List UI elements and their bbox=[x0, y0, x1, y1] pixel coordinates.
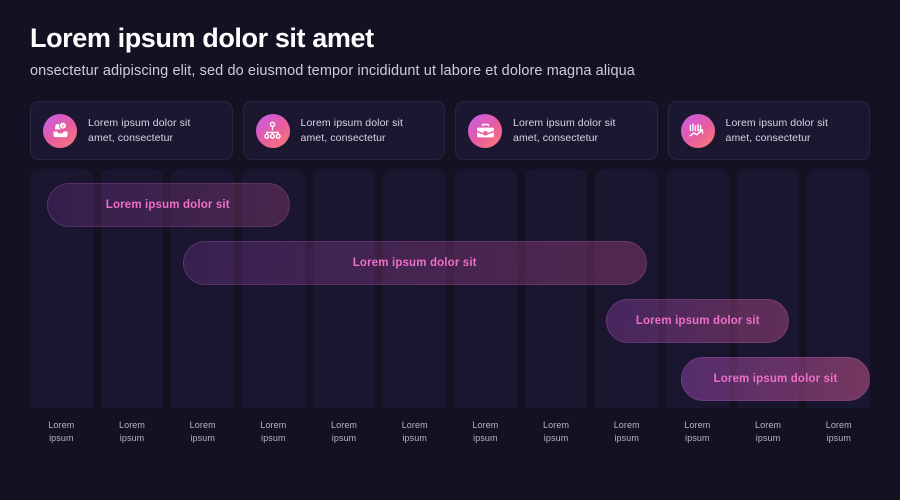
gantt-chart: Lorem ipsum dolor sit Lorem ipsum dolor … bbox=[30, 169, 870, 464]
axis-label: Loremipsum bbox=[242, 419, 305, 445]
axis-label: Loremipsum bbox=[595, 419, 658, 445]
axis-label-line: ipsum bbox=[454, 432, 517, 445]
gantt-bar-label: Lorem ipsum dolor sit bbox=[714, 373, 838, 385]
axis-label-line: Lorem bbox=[525, 419, 588, 432]
inbox-check-icon bbox=[43, 114, 77, 148]
gantt-bar[interactable]: Lorem ipsum dolor sit bbox=[47, 183, 291, 227]
info-card-2[interactable]: Lorem ipsum dolor sit amet, consectetur bbox=[243, 101, 446, 160]
chart-growth-icon bbox=[681, 114, 715, 148]
axis-label: Loremipsum bbox=[101, 419, 164, 445]
header: Lorem ipsum dolor sit amet onsectetur ad… bbox=[30, 22, 870, 79]
info-card-1[interactable]: Lorem ipsum dolor sit amet, consectetur bbox=[30, 101, 233, 160]
info-card-4[interactable]: Lorem ipsum dolor sit amet, consectetur bbox=[668, 101, 871, 160]
axis-label-line: ipsum bbox=[171, 432, 234, 445]
gantt-bar-label: Lorem ipsum dolor sit bbox=[106, 199, 230, 211]
axis-label-line: Lorem bbox=[807, 419, 870, 432]
axis-label-line: Lorem bbox=[737, 419, 800, 432]
axis-label-line: ipsum bbox=[383, 432, 446, 445]
info-card-3[interactable]: Lorem ipsum dolor sit amet, consectetur bbox=[455, 101, 658, 160]
briefcase-icon bbox=[468, 114, 502, 148]
axis-label-line: ipsum bbox=[525, 432, 588, 445]
axis-label-line: ipsum bbox=[666, 432, 729, 445]
axis-label-line: ipsum bbox=[242, 432, 305, 445]
page-title: Lorem ipsum dolor sit amet bbox=[30, 22, 870, 54]
page-subtitle: onsectetur adipiscing elit, sed do eiusm… bbox=[30, 63, 870, 79]
axis-label-line: ipsum bbox=[737, 432, 800, 445]
slide-root: { "header": { "title": "Lorem ipsum dolo… bbox=[0, 0, 900, 500]
gantt-bar[interactable]: Lorem ipsum dolor sit bbox=[183, 241, 647, 285]
axis-label-line: ipsum bbox=[101, 432, 164, 445]
axis-label-line: Lorem bbox=[313, 419, 376, 432]
axis-label-line: Lorem bbox=[383, 419, 446, 432]
axis-label: Loremipsum bbox=[525, 419, 588, 445]
hierarchy-icon bbox=[256, 114, 290, 148]
axis-label: Loremipsum bbox=[313, 419, 376, 445]
axis-label: Loremipsum bbox=[666, 419, 729, 445]
gantt-axis-labels: Loremipsum Loremipsum Loremipsum Loremip… bbox=[30, 419, 870, 445]
axis-label: Loremipsum bbox=[171, 419, 234, 445]
axis-label: Loremipsum bbox=[807, 419, 870, 445]
axis-label-line: Lorem bbox=[101, 419, 164, 432]
axis-label-line: Lorem bbox=[454, 419, 517, 432]
gantt-bar[interactable]: Lorem ipsum dolor sit bbox=[681, 357, 870, 401]
axis-label: Loremipsum bbox=[737, 419, 800, 445]
info-card-label: Lorem ipsum dolor sit amet, consectetur bbox=[726, 116, 858, 146]
info-card-label: Lorem ipsum dolor sit amet, consectetur bbox=[88, 116, 220, 146]
axis-label-line: Lorem bbox=[171, 419, 234, 432]
axis-label: Loremipsum bbox=[383, 419, 446, 445]
axis-label-line: ipsum bbox=[313, 432, 376, 445]
axis-label-line: Lorem bbox=[30, 419, 93, 432]
gantt-bar-label: Lorem ipsum dolor sit bbox=[636, 315, 760, 327]
axis-label-line: Lorem bbox=[666, 419, 729, 432]
gantt-bar-label: Lorem ipsum dolor sit bbox=[353, 257, 477, 269]
axis-label-line: ipsum bbox=[595, 432, 658, 445]
axis-label-line: Lorem bbox=[242, 419, 305, 432]
axis-label: Loremipsum bbox=[454, 419, 517, 445]
info-card-label: Lorem ipsum dolor sit amet, consectetur bbox=[301, 116, 433, 146]
axis-label: Loremipsum bbox=[30, 419, 93, 445]
gantt-bar[interactable]: Lorem ipsum dolor sit bbox=[606, 299, 789, 343]
gantt-bars-layer: Lorem ipsum dolor sit Lorem ipsum dolor … bbox=[30, 169, 870, 408]
axis-label-line: Lorem bbox=[595, 419, 658, 432]
info-cards-row: Lorem ipsum dolor sit amet, consectetur … bbox=[30, 101, 870, 160]
axis-label-line: ipsum bbox=[30, 432, 93, 445]
axis-label-line: ipsum bbox=[807, 432, 870, 445]
info-card-label: Lorem ipsum dolor sit amet, consectetur bbox=[513, 116, 645, 146]
